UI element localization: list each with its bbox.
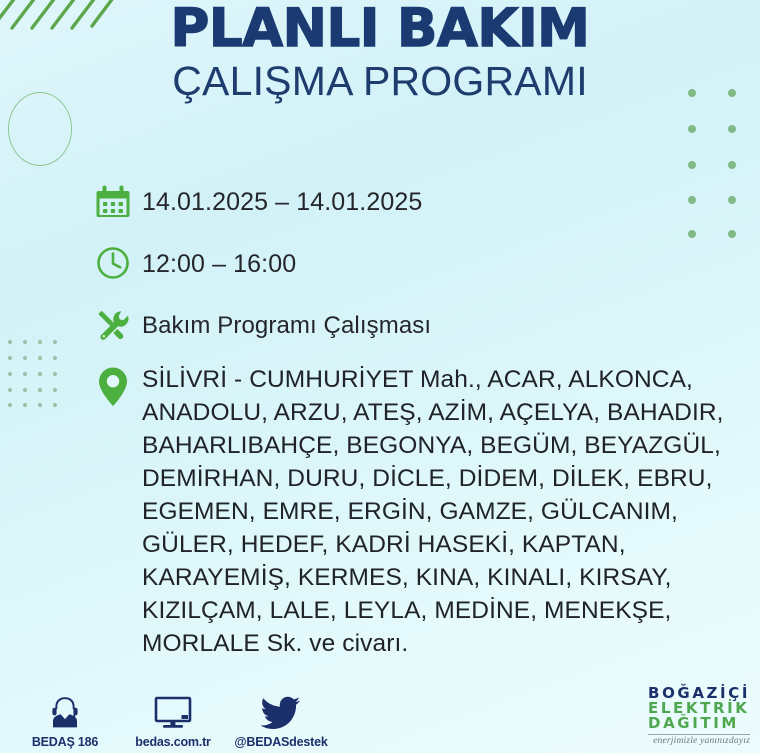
info-row-time: 12:00 – 16:00	[96, 240, 742, 286]
contact-phone-label: BEDAŞ 186	[32, 735, 98, 749]
twitter-bird-icon	[261, 690, 301, 730]
date-range-value: 14.01.2025 – 14.01.2025	[142, 178, 422, 220]
info-row-location: SİLİVRİ - CUMHURİYET Mah., ACAR, ALKONCA…	[96, 362, 742, 660]
address-line: KARAYEMİŞ, KERMES, KINA, KINALI, KIRSAY,	[142, 562, 724, 595]
brand-line-3: DAĞITIM	[648, 716, 750, 731]
calendar-icon	[96, 178, 142, 224]
planned-maintenance-poster: PLANLI BAKIM ÇALIŞMA PROGRAMI	[0, 0, 760, 753]
dot-grid-decoration-left	[6, 336, 68, 408]
contact-twitter[interactable]: @BEDASdestek	[238, 690, 324, 749]
support-agent-icon	[47, 690, 83, 730]
poster-header: PLANLI BAKIM ÇALIŞMA PROGRAMI	[0, 0, 760, 103]
contact-website-label: bedas.com.tr	[135, 735, 210, 749]
address-line: GÜLER, HEDEF, KADRİ HASEKİ, KAPTAN,	[142, 529, 724, 562]
contact-twitter-label: @BEDASdestek	[234, 735, 327, 749]
bedas-logo: BOĞAZİÇİ ELEKTRİK DAĞITIM enerjimizle ya…	[648, 686, 750, 747]
page-title: PLANLI BAKIM	[0, 2, 760, 56]
map-pin-icon	[96, 362, 142, 410]
brand-divider	[648, 734, 750, 735]
tools-icon	[96, 302, 142, 348]
page-subtitle: ÇALIŞMA PROGRAMI	[0, 60, 760, 103]
clock-icon	[96, 240, 142, 286]
info-row-date: 14.01.2025 – 14.01.2025	[96, 178, 742, 224]
brand-tagline: enerjimizle yanınızdayız	[648, 737, 750, 747]
poster-footer: BEDAŞ 186 bedas.com.tr	[0, 679, 760, 753]
contact-website[interactable]: bedas.com.tr	[130, 690, 216, 749]
monitor-icon	[154, 690, 192, 730]
address-line: DEMİRHAN, DURU, DİCLE, DİDEM, DİLEK, EBR…	[142, 463, 724, 496]
work-type-value: Bakım Programı Çalışması	[142, 302, 431, 342]
address-line: BAHARLIBAHÇE, BEGONYA, BEGÜM, BEYAZGÜL,	[142, 430, 724, 463]
address-line: MORLALE Sk. ve civarı.	[142, 628, 724, 661]
contact-phone[interactable]: BEDAŞ 186	[22, 690, 108, 749]
location-value: SİLİVRİ - CUMHURİYET Mah., ACAR, ALKONCA…	[142, 362, 724, 660]
circle-outline-decoration	[8, 92, 72, 166]
time-range-value: 12:00 – 16:00	[142, 240, 296, 282]
address-line: EGEMEN, EMRE, ERGİN, GAMZE, GÜLCANIM,	[142, 496, 724, 529]
info-row-work-type: Bakım Programı Çalışması	[96, 302, 742, 348]
address-line: KIZILÇAM, LALE, LEYLA, MEDİNE, MENEKŞE,	[142, 595, 724, 628]
contact-channels: BEDAŞ 186 bedas.com.tr	[22, 690, 324, 749]
address-line: ANADOLU, ARZU, ATEŞ, AZİM, AÇELYA, BAHAD…	[142, 397, 724, 430]
info-section: 14.01.2025 – 14.01.2025 12:00 – 16:00	[96, 178, 742, 674]
address-line: SİLİVRİ - CUMHURİYET Mah., ACAR, ALKONCA…	[142, 364, 724, 397]
